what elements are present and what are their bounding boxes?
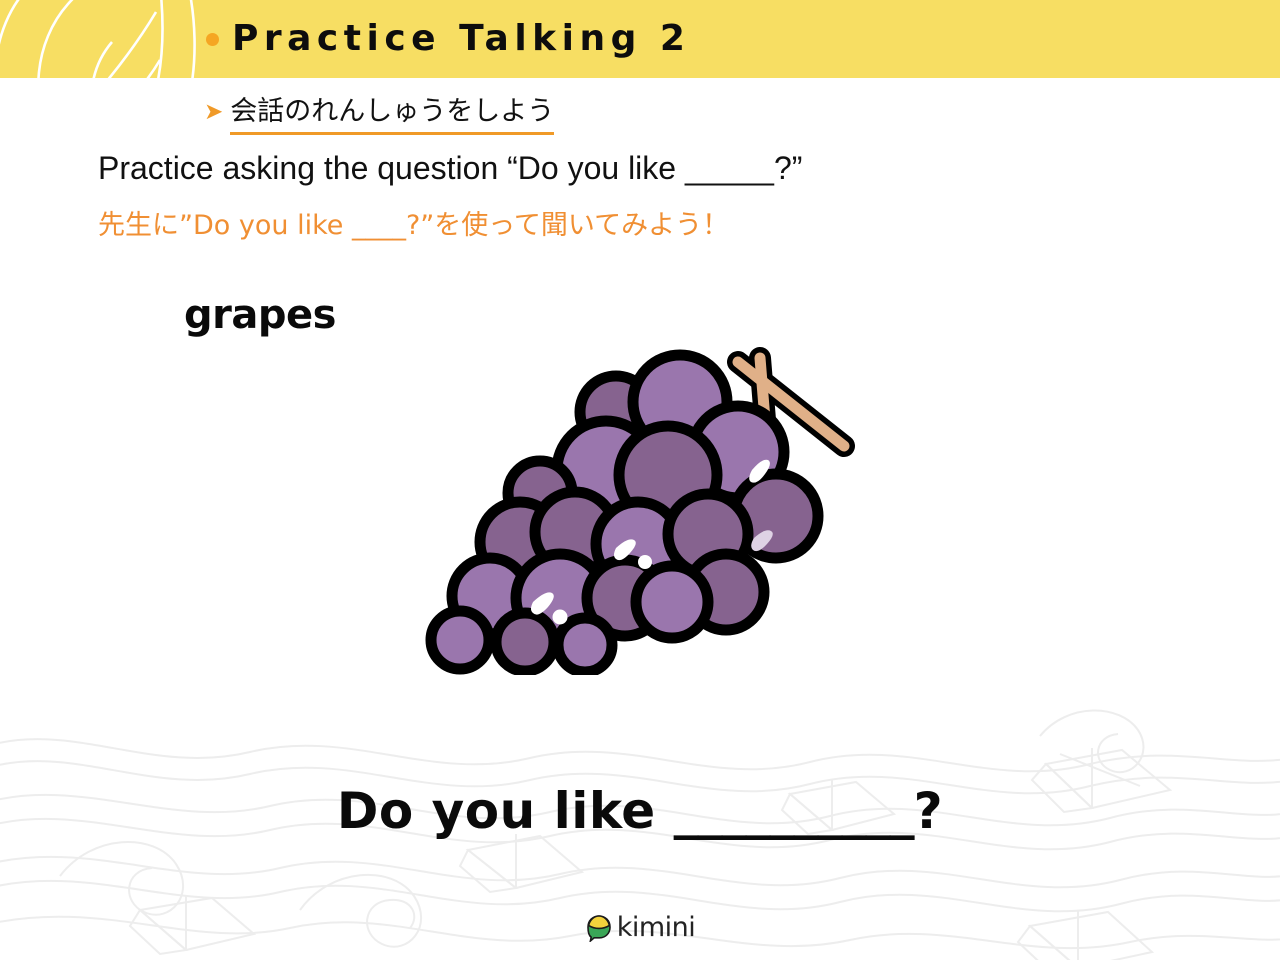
prompt-blank-line: __________ <box>674 782 914 840</box>
footer-logo: kimini <box>0 912 1280 943</box>
subhead-japanese-label: 会話のれんしゅうをしよう <box>230 96 554 135</box>
kimini-acorn-logo-icon <box>585 914 613 942</box>
bullet-dot-icon <box>206 33 219 46</box>
prompt-sentence: Do you like __________? <box>0 782 1280 840</box>
vocabulary-word: grapes <box>184 292 336 338</box>
kimini-logo-text: kimini <box>617 912 696 943</box>
page-title: Practice Talking 2 <box>232 21 690 57</box>
header-title-row: Practice Talking 2 <box>206 0 690 78</box>
prompt-question-mark: ? <box>914 782 944 840</box>
header-banner: Practice Talking 2 <box>0 0 1280 78</box>
subhead-row: ➤ 会話のれんしゅうをしよう <box>204 96 554 135</box>
instruction-japanese: 先生に”Do you like ____?”を使って聞いてみよう！ <box>98 203 729 242</box>
triangle-right-arrow-icon: ➤ <box>204 96 223 126</box>
grapes-illustration-icon <box>420 330 870 675</box>
leaf-outline-decoration-icon <box>0 0 220 78</box>
instruction-english: Practice asking the question “Do you lik… <box>98 150 802 187</box>
prompt-lead-text: Do you like <box>337 782 674 840</box>
